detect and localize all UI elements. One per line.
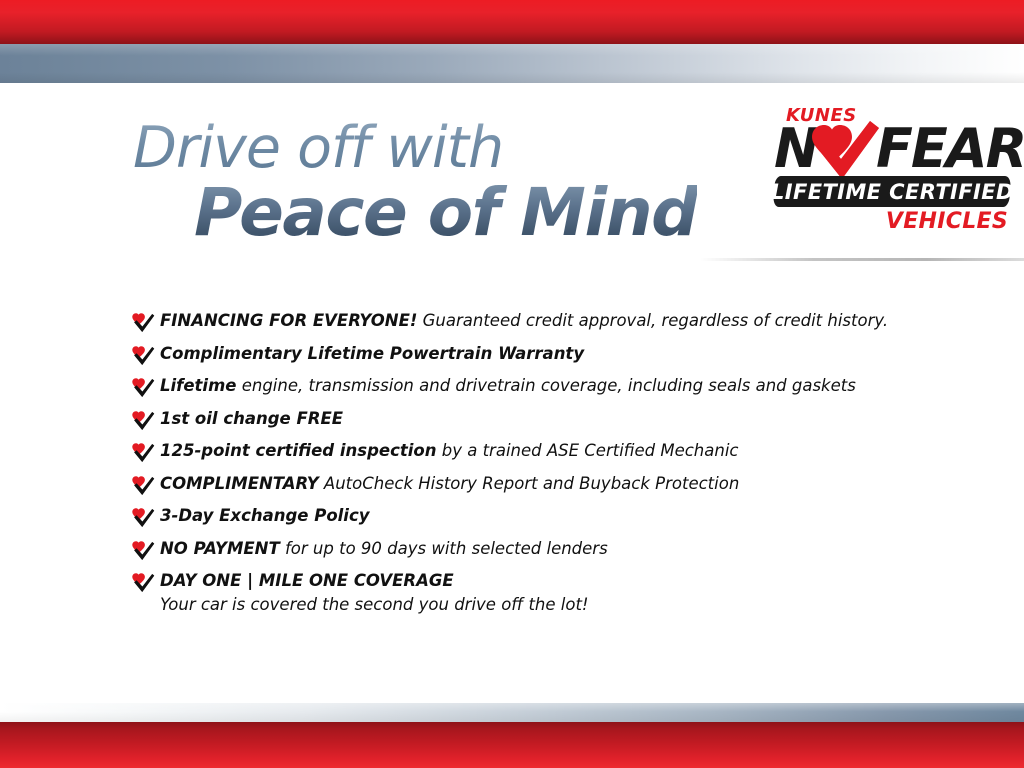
header-divider (700, 258, 1024, 261)
top-gray-gradient-band (0, 44, 1024, 83)
benefit-item-bold: 3-Day Exchange Policy (160, 506, 370, 525)
benefit-item-rest: by a trained ASE Certified Mechanic (437, 441, 739, 460)
benefits-list: FINANCING FOR EVERYONE! Guaranteed credi… (131, 310, 931, 626)
benefit-item-subtext: Your car is covered the second you drive… (160, 594, 931, 616)
benefit-item-text: 1st oil change FREE (160, 408, 343, 429)
benefit-item-text: 3-Day Exchange Policy (160, 505, 370, 526)
bottom-gray-gradient-band (0, 703, 1024, 722)
logo-banner-text: LIFETIME CERTIFIED (771, 180, 1014, 204)
kunes-no-fear-logo: KUNES N FEAR LIFETIME CERTIFIED VEHICLES (772, 105, 1012, 235)
benefit-item-text: FINANCING FOR EVERYONE! Guaranteed credi… (160, 310, 888, 331)
heart-check-bullet-icon (131, 312, 155, 333)
benefit-item: 3-Day Exchange Policy (131, 505, 931, 528)
benefit-item-bold: DAY ONE | MILE ONE COVERAGE (160, 571, 454, 590)
benefit-item: DAY ONE | MILE ONE COVERAGEYour car is c… (131, 570, 931, 616)
benefit-item: COMPLIMENTARY AutoCheck History Report a… (131, 473, 931, 496)
headline-line-1: Drive off with (133, 118, 697, 178)
benefit-item-text: 125-point certified inspection by a trai… (160, 440, 738, 461)
benefit-item-bold: 125-point certified inspection (160, 441, 437, 460)
heart-check-bullet-icon (131, 540, 155, 561)
heart-check-bullet-icon (131, 507, 155, 528)
benefit-item: 1st oil change FREE (131, 408, 931, 431)
benefit-item-rest: Guaranteed credit approval, regardless o… (417, 311, 888, 330)
top-red-band (0, 0, 1024, 44)
benefit-item: NO PAYMENT for up to 90 days with select… (131, 538, 931, 561)
header-area: Drive off with Peace of Mind KUNES N FEA… (0, 83, 1024, 263)
heart-check-bullet-icon (131, 442, 155, 463)
heart-check-bullet-icon (131, 540, 155, 561)
benefit-item: FINANCING FOR EVERYONE! Guaranteed credi… (131, 310, 931, 333)
logo-lifetime-certified-banner: LIFETIME CERTIFIED (773, 176, 1011, 207)
benefit-item-text: DAY ONE | MILE ONE COVERAGE (160, 570, 454, 591)
heart-check-bullet-icon (131, 312, 155, 333)
heart-check-bullet-icon (131, 377, 155, 398)
heart-check-bullet-icon (131, 377, 155, 398)
benefit-item-rest: for up to 90 days with selected lenders (280, 539, 608, 558)
heart-check-bullet-icon (131, 572, 155, 593)
benefit-item-bold: COMPLIMENTARY (160, 474, 319, 493)
heart-check-bullet-icon (131, 410, 155, 431)
benefit-item: 125-point certified inspection by a trai… (131, 440, 931, 463)
benefit-item: Complimentary Lifetime Powertrain Warran… (131, 343, 931, 366)
heart-check-bullet-icon (131, 572, 155, 593)
benefit-item-bold: 1st oil change FREE (160, 409, 343, 428)
benefit-item-text: Complimentary Lifetime Powertrain Warran… (160, 343, 584, 364)
benefit-item-bold: Lifetime (160, 376, 236, 395)
heart-check-bullet-icon (131, 345, 155, 366)
headline-line-2: Peace of Mind (133, 178, 697, 248)
bottom-red-band (0, 722, 1024, 768)
heart-check-bullet-icon (131, 345, 155, 366)
heart-check-bullet-icon (131, 475, 155, 496)
logo-word-fear: FEAR (876, 122, 1024, 176)
benefit-item: Lifetime engine, transmission and drivet… (131, 375, 931, 398)
benefit-item-bold: NO PAYMENT (160, 539, 280, 558)
benefit-item-bold: Complimentary Lifetime Powertrain Warran… (160, 344, 584, 363)
benefit-item-text: Lifetime engine, transmission and drivet… (160, 375, 856, 396)
heart-check-bullet-icon (131, 410, 155, 431)
logo-vehicles-text: VEHICLES (886, 209, 1008, 234)
logo-nofear-row: N FEAR (772, 122, 1012, 178)
headline-block: Drive off with Peace of Mind (133, 118, 697, 248)
benefit-item-text: COMPLIMENTARY AutoCheck History Report a… (160, 473, 739, 494)
benefit-item-rest: engine, transmission and drivetrain cove… (236, 376, 855, 395)
benefit-item-bold: FINANCING FOR EVERYONE! (160, 311, 417, 330)
benefit-item-text: NO PAYMENT for up to 90 days with select… (160, 538, 608, 559)
heart-check-bullet-icon (131, 507, 155, 528)
heart-check-bullet-icon (131, 442, 155, 463)
heart-check-icon (804, 119, 880, 181)
heart-check-bullet-icon (131, 475, 155, 496)
benefit-item-rest: AutoCheck History Report and Buyback Pro… (319, 474, 740, 493)
